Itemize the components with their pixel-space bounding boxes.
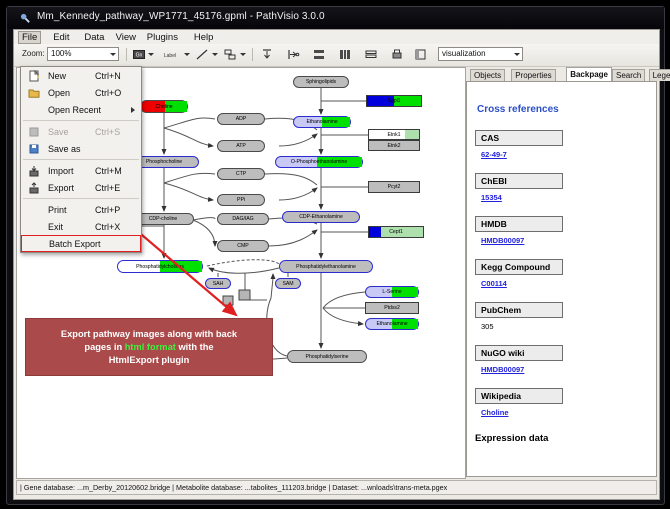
window-title: Mm_Kennedy_pathway_WP1771_45176.gpml - P… [37,11,325,22]
file-menu-item-open-recent[interactable]: Open Recent [21,101,141,118]
label-dropdown-icon[interactable] [184,53,190,56]
file-menu-accelerator: Ctrl+S [95,127,120,137]
xref-value-wikipedia[interactable]: Choline [481,408,509,417]
xref-value-kegg-compound[interactable]: C00114 [481,279,507,288]
visualization-value: visualization [442,49,486,58]
chevron-down-icon [514,53,520,56]
menu-bar: FileEditDataViewPluginsHelp [14,30,659,45]
menubar-item-data[interactable]: Data [80,31,108,44]
node-label: O-Phosphoethanolamine [291,159,347,165]
chevron-down-icon [110,53,116,56]
open-folder-icon [28,87,40,99]
distribute-horizontal-icon[interactable] [338,47,352,62]
pathway-node-atp[interactable]: ATP [217,140,265,152]
pathway-node-cdp-ethanolamine[interactable]: CDP-Ethanolamine [282,211,360,223]
zoom-label: Zoom: [22,49,45,58]
node-label: ADP [236,116,247,122]
node-label: Phosphatidylserine [306,354,349,360]
node-label: Etnk1 [387,132,400,138]
node-label: Sgpl1 [387,98,400,104]
file-menu-label: Open [48,88,70,98]
pathway-node-ptdss2[interactable]: Ptdss2 [365,302,419,314]
file-menu-accelerator: Ctrl+X [95,222,120,232]
file-menu-item-exit[interactable]: ExitCtrl+X [21,218,141,235]
file-menu-item-save: SaveCtrl+S [21,123,141,140]
zoom-combo[interactable]: 100% [47,47,119,61]
side-panel-tabs: ObjectsPropertiesBackpageSearchLegend [466,67,657,81]
node-label: DAG/IAG [232,216,253,222]
xref-value-chebi[interactable]: 15354 [481,193,502,202]
node-label: Pcyt2 [388,184,401,190]
xref-db-cas: CAS [475,130,563,146]
line-dropdown-icon[interactable] [212,53,218,56]
expression-data-heading: Expression data [475,433,548,444]
file-menu-accelerator: Ctrl+E [95,183,120,193]
annotation-callout: Export pathway images along with back pa… [25,318,273,376]
file-menu-accelerator: Ctrl+P [95,205,120,215]
new-file-icon [28,70,40,82]
node-label: L-Serine [382,289,401,295]
shape-tool-icon[interactable] [223,47,237,62]
xref-db-wikipedia: Wikipedia [475,388,563,404]
sidepanel-icon[interactable] [414,47,428,62]
pathway-node-ethanolamine-2[interactable]: Ethanolamine [365,318,419,330]
datanode-dropdown-icon[interactable] [148,53,154,56]
pathvisio-icon [20,13,31,24]
import-icon [28,165,40,177]
file-menu-accelerator: Ctrl+O [95,88,121,98]
node-label: Choline [155,104,172,110]
file-menu-label: New [48,71,66,81]
pathway-node-ppi[interactable]: PPi [217,194,265,206]
pathway-node-phosphatidylethanolamine[interactable]: Phosphatidylethanolamine [279,260,373,273]
tab-backpage[interactable]: Backpage [566,67,612,81]
annotation-line-2b: with the [176,342,214,352]
xref-value-nugo-wiki[interactable]: HMDB00097 [481,365,524,374]
annotation-line-3: HtmlExport plugin [109,355,190,365]
pathway-node-choline-top[interactable]: Choline [140,100,188,113]
file-menu-label: Exit [48,222,63,232]
pathway-node-ctp[interactable]: CTP [217,168,265,180]
file-menu-item-new[interactable]: NewCtrl+N [21,67,141,84]
xref-db-chebi: ChEBI [475,173,563,189]
stack-icon[interactable] [364,47,378,62]
pathway-node-phosphatidylserine[interactable]: Phosphatidylserine [287,350,367,363]
file-menu-label: Save [48,127,69,137]
pathway-node-cmp[interactable]: CMP [217,240,269,252]
node-label: Ethanolamine [376,321,407,327]
pathway-node-pcyt2[interactable]: Pcyt2 [368,181,420,193]
align-top-icon[interactable] [260,47,274,62]
xref-value-cas[interactable]: 62-49-7 [481,150,507,159]
pathway-node-phosphatidylcholines[interactable]: Phosphatidylcholines [117,260,203,273]
backpage-content[interactable]: Cross references CAS62-49-7ChEBI15354HMD… [466,81,657,477]
annotation-line-2a: pages in [84,342,124,352]
menubar-item-plugins[interactable]: Plugins [143,31,182,44]
visualization-combo[interactable]: visualization [438,47,523,61]
xref-db-hmdb: HMDB [475,216,563,232]
node-label: Etnk2 [387,143,400,149]
file-menu-label: Import [48,166,74,176]
node-label: Phosphocholine [146,159,182,165]
pathway-node-dagiag[interactable]: DAG/IAG [217,213,269,225]
pathway-node-ethanolamine-1[interactable]: Ethanolamine [293,116,351,128]
node-label: ATP [236,143,246,149]
file-menu-item-export[interactable]: ExportCtrl+E [21,179,141,196]
file-menu-item-print[interactable]: PrintCtrl+P [21,201,141,218]
datanode-tool-icon[interactable]: Gn [132,47,146,62]
file-menu-item-open[interactable]: OpenCtrl+O [21,84,141,101]
file-menu-label: Save as [48,144,81,154]
pathway-node-adp[interactable]: ADP [217,113,265,125]
node-label: CTP [236,171,246,177]
file-menu-item-batch-export[interactable]: Batch Export [21,235,141,252]
pathway-node-sphingolipids[interactable]: Sphingolipids [293,76,349,88]
tab-legend[interactable]: Legend [649,69,670,81]
menu-separator [23,198,139,199]
menubar-item-help[interactable]: Help [190,31,218,44]
screenshot-root: Mm_Kennedy_pathway_WP1771_45176.gpml - P… [0,0,670,509]
node-label: Ptdss2 [384,305,400,311]
node-label: PPi [237,197,245,203]
menubar-item-file[interactable]: File [18,31,41,44]
file-menu-label: Batch Export [49,239,101,249]
node-fill-right [405,130,419,139]
tab-search[interactable]: Search [612,69,645,81]
file-menu-label: Export [48,183,74,193]
zoom-value: 100% [51,49,71,58]
pathway-node-o-phosphoethanolamine[interactable]: O-Phosphoethanolamine [275,156,363,168]
file-menu-item-import[interactable]: ImportCtrl+M [21,162,141,179]
pathway-node-sgpl1[interactable]: Sgpl1 [366,95,422,107]
xref-db-nugo-wiki: NuGO wiki [475,345,563,361]
node-label: Sphingolipids [306,79,336,85]
node-label: CMP [237,243,248,249]
node-label: Phosphatidylcholines [136,264,184,270]
save-icon [28,126,40,138]
xref-db-pubchem: PubChem [475,302,563,318]
node-label: Ethanolamine [306,119,337,125]
tool-bar: Zoom: 100% Gn Label [14,44,659,67]
align-left-icon[interactable] [286,47,300,62]
shape-dropdown-icon[interactable] [240,53,246,56]
file-menu-label: Open Recent [48,105,101,115]
print-icon[interactable] [390,47,404,62]
file-menu-accelerator: Ctrl+N [95,71,121,81]
file-menu-label: Print [48,205,67,215]
cross-references-heading: Cross references [477,104,559,115]
tab-objects[interactable]: Objects [470,69,505,81]
pathway-node-sah[interactable]: SAH [205,278,231,289]
annotation-line-2-green: html format [125,342,176,352]
pathway-node-sam[interactable]: SAM [275,278,301,289]
export-icon [28,182,40,194]
annotation-line-1: Export pathway images along with back [61,329,237,339]
distribute-vertical-icon[interactable] [312,47,326,62]
submenu-arrow-icon [131,107,135,113]
window-client-area: FileEditDataViewPluginsHelp Zoom: 100% G… [13,29,660,500]
pathway-node-l-serine[interactable]: L-Serine [365,286,419,298]
node-label: SAH [213,281,224,287]
node-label: CDP-choline [149,216,178,222]
node-label: Phosphatidylethanolamine [296,264,356,270]
side-panel: ObjectsPropertiesBackpageSearchLegend Cr… [466,67,657,477]
title-bar: Mm_Kennedy_pathway_WP1771_45176.gpml - P… [7,7,664,29]
svg-text:Gn: Gn [136,53,143,59]
label-tool-icon[interactable]: Label [159,47,181,62]
node-label: CDP-Ethanolamine [299,214,343,220]
svg-text:Label: Label [164,53,176,59]
application-window: Mm_Kennedy_pathway_WP1771_45176.gpml - P… [6,6,665,505]
xref-db-kegg-compound: Kegg Compound [475,259,563,275]
save-as-icon [28,143,40,155]
file-menu-accelerator: Ctrl+M [95,166,122,176]
menubar-item-edit[interactable]: Edit [49,31,73,44]
pathway-node-cept1[interactable]: Cept1 [368,226,424,238]
tab-properties[interactable]: Properties [511,69,555,81]
xref-value-hmdb[interactable]: HMDB00097 [481,236,524,245]
node-label: Cept1 [389,229,403,235]
status-bar: | Gene database: ...m_Derby_20120602.bri… [16,480,657,495]
pathway-node-etnk1[interactable]: Etnk1 [368,129,420,140]
node-label: SAM [282,281,293,287]
menubar-item-view[interactable]: View [112,31,140,44]
file-menu-popup[interactable]: NewCtrl+NOpenCtrl+OOpen RecentSaveCtrl+S… [20,66,142,253]
line-tool-icon[interactable] [195,47,209,62]
pathway-node-etnk2[interactable]: Etnk2 [368,140,420,151]
menu-separator [23,159,139,160]
file-menu-item-save-as[interactable]: Save as [21,140,141,157]
xref-value-pubchem: 305 [481,322,494,331]
menu-separator [23,120,139,121]
